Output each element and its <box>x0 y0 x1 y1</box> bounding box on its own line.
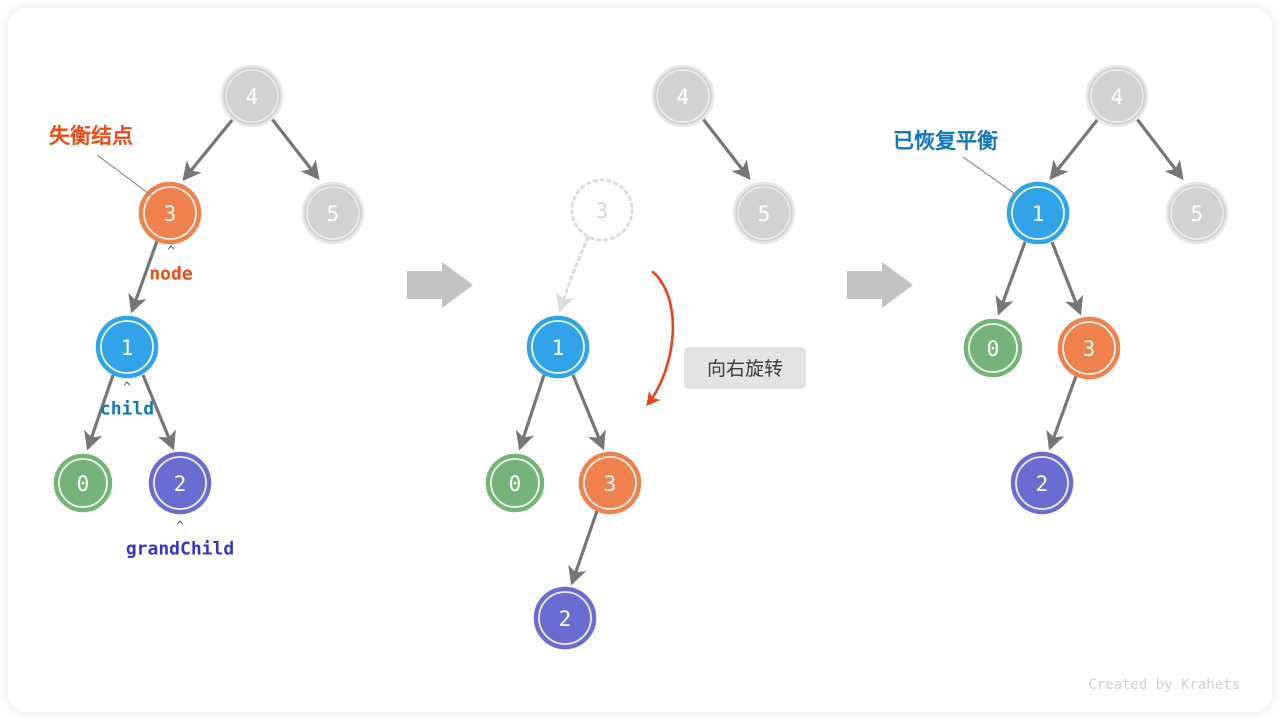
edge-4-to-5-mid <box>703 119 749 178</box>
edge-3-to-2-after <box>1050 376 1076 448</box>
node-3-ghost: 3 <box>572 180 632 240</box>
node-0-mid[interactable]: 0 <box>487 455 543 511</box>
leader-line-rebalanced <box>963 157 1018 196</box>
node-label: 1 <box>121 336 134 360</box>
edge-4-to-3 <box>184 119 233 179</box>
node-1-child[interactable]: 1 <box>97 317 157 377</box>
annotation-unbalanced-node: 失衡结点 <box>49 124 133 148</box>
node-0-after[interactable]: 0 <box>965 320 1021 376</box>
edge-4-to-5-after <box>1137 119 1182 178</box>
panel-before: 4 3 5 1 0 <box>49 66 363 560</box>
node-1-mid[interactable]: 1 <box>528 317 588 377</box>
node-label: 4 <box>246 85 259 109</box>
node-label: 4 <box>1111 85 1124 109</box>
annotation-grandchild-var: grandChild <box>126 539 234 560</box>
node-2-grandchild[interactable]: 2 <box>150 453 210 513</box>
node-4[interactable]: 4 <box>222 66 282 126</box>
node-5-mid[interactable]: 5 <box>734 183 794 243</box>
edge-4-to-1-after <box>1051 119 1098 178</box>
node-0[interactable]: 0 <box>55 455 111 511</box>
node-2-mid[interactable]: 2 <box>535 588 595 648</box>
caret-node: ^ <box>167 245 175 260</box>
node-label: 4 <box>677 85 690 109</box>
node-label: 2 <box>174 472 187 496</box>
node-3-after[interactable]: 3 <box>1059 318 1119 378</box>
node-4-after[interactable]: 4 <box>1087 66 1147 126</box>
diagram-svg: 4 3 5 1 0 <box>0 0 1280 720</box>
node-label: 0 <box>509 472 522 496</box>
panel-rotating: 3 4 5 1 0 <box>487 66 806 648</box>
node-label: 3 <box>164 202 177 226</box>
leader-line-unbalanced <box>97 155 152 196</box>
edge-1-to-3-after <box>1052 242 1080 313</box>
watermark: Created by Krahets <box>1088 677 1240 693</box>
annotation-node-var: node <box>149 264 193 285</box>
node-4-mid[interactable]: 4 <box>653 66 713 126</box>
node-label: 2 <box>559 607 572 631</box>
edge-1-to-0-after <box>999 242 1025 313</box>
caret-grandchild: ^ <box>176 520 184 535</box>
diagram-canvas: 4 3 5 1 0 <box>0 0 1280 720</box>
node-label: 5 <box>327 202 340 226</box>
edge-ghost-3-to-1 <box>560 238 588 310</box>
annotation-child-var: child <box>100 399 154 420</box>
node-label: 3 <box>1083 337 1096 361</box>
edge-4-to-5 <box>272 119 318 178</box>
node-label: 0 <box>987 337 1000 361</box>
node-label: 2 <box>1036 472 1049 496</box>
node-label: 5 <box>1191 202 1204 226</box>
node-label: 3 <box>596 199 609 223</box>
annotation-rebalanced: 已恢复平衡 <box>893 129 998 153</box>
node-label: 0 <box>77 472 90 496</box>
node-3-mid[interactable]: 3 <box>580 453 640 513</box>
rotation-arrow <box>648 272 673 404</box>
caret-child: ^ <box>123 381 131 396</box>
step-arrow-1 <box>407 262 473 308</box>
node-1-after-rebalanced[interactable]: 1 <box>1008 183 1068 243</box>
edge-1-to-3-mid <box>573 375 603 448</box>
rotate-right-label: 向右旋转 <box>684 347 806 389</box>
node-5[interactable]: 5 <box>303 183 363 243</box>
node-2-after[interactable]: 2 <box>1012 453 1072 513</box>
edge-3-to-2-mid <box>572 511 597 583</box>
node-3-unbalanced[interactable]: 3 <box>140 183 200 243</box>
node-label: 1 <box>1032 202 1045 226</box>
rotate-right-label-text: 向右旋转 <box>707 358 783 380</box>
step-arrow-2 <box>847 262 913 308</box>
node-5-after[interactable]: 5 <box>1167 183 1227 243</box>
node-label: 5 <box>758 202 771 226</box>
panel-after: 4 1 5 0 3 <box>893 66 1227 513</box>
edge-1-to-0-mid <box>520 375 544 448</box>
node-label: 1 <box>552 336 565 360</box>
node-label: 3 <box>604 472 617 496</box>
